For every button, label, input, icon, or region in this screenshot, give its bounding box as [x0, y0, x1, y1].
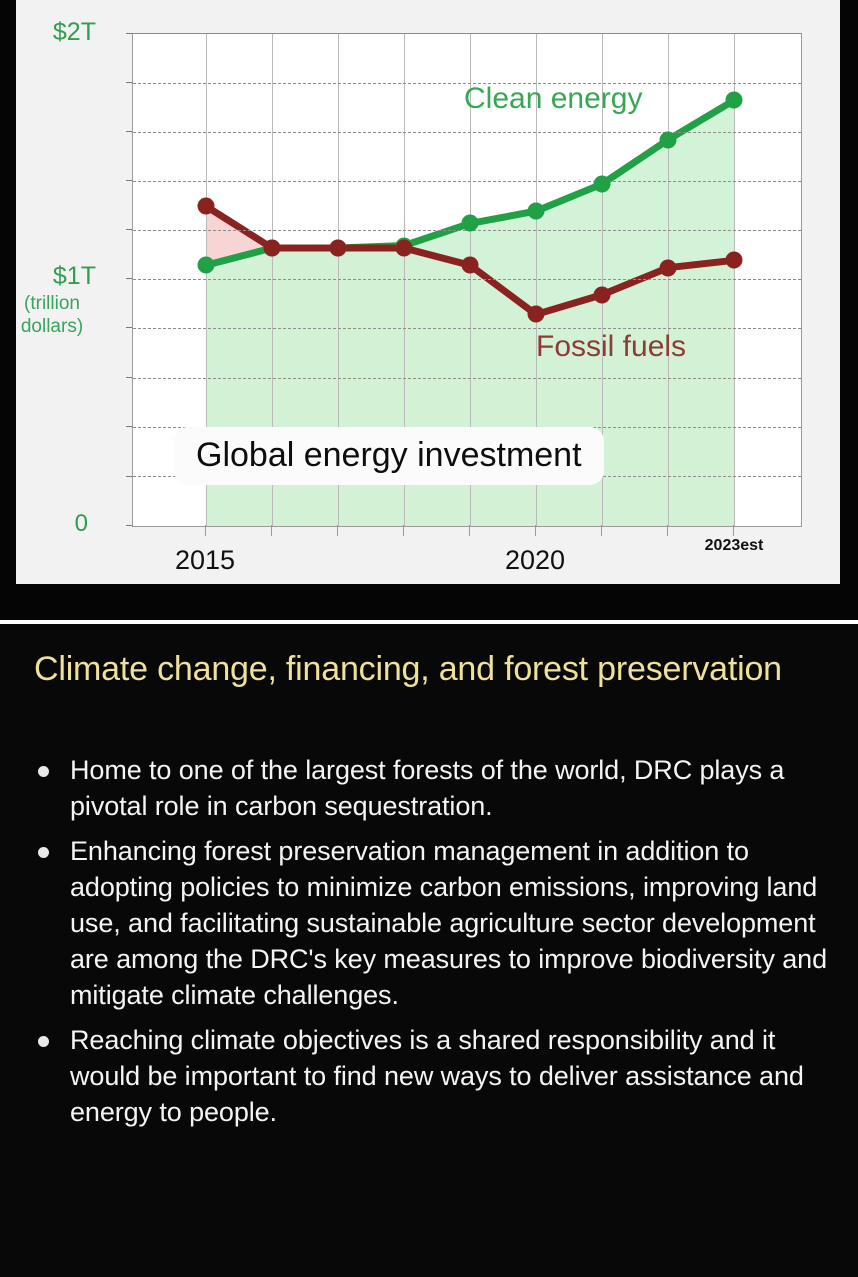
clean-energy-series-label: Clean energy: [464, 84, 642, 114]
bullet-text: Home to one of the largest forests of th…: [70, 752, 834, 824]
fossil-fuels-point: [594, 286, 611, 303]
x-tick: [337, 525, 338, 536]
fossil-fuels-point: [264, 240, 281, 257]
x-tick: [667, 525, 668, 536]
x-gridline: [668, 34, 669, 526]
x-tick: [205, 525, 206, 536]
bullet-item: Home to one of the largest forests of th…: [34, 752, 834, 824]
y-axis-label-zero: 0: [75, 512, 88, 536]
x-tick: [469, 525, 470, 536]
fossil-fuels-point: [660, 259, 677, 276]
y-gridline: [133, 132, 801, 133]
fossil-fuels-point: [462, 257, 479, 274]
bullet-marker-icon: [38, 847, 49, 858]
clean-energy-point: [198, 257, 215, 274]
bullet-list: Home to one of the largest forests of th…: [34, 752, 834, 1139]
fossil-fuels-series-label: Fossil fuels: [536, 332, 686, 362]
fossil-fuels-point: [330, 240, 347, 257]
x-axis-label-2020: 2020: [505, 547, 565, 574]
presentation-slide: $2T $1T (trillion dollars) 0: [0, 0, 858, 1277]
bullet-text: Reaching climate objectives is a shared …: [70, 1022, 834, 1130]
clean-energy-point: [660, 131, 677, 148]
bullet-item: Reaching climate objectives is a shared …: [34, 1022, 834, 1130]
x-tick: [403, 525, 404, 536]
x-tick: [271, 525, 272, 536]
slide-title: Climate change, financing, and forest pr…: [34, 650, 834, 689]
y-gridline: [133, 328, 801, 329]
clean-energy-point: [462, 215, 479, 232]
x-tick: [733, 525, 734, 536]
y-axis-label-1t: $1T: [53, 264, 96, 289]
y-axis-units: (trillion dollars): [0, 292, 112, 338]
bullet-marker-icon: [38, 1036, 49, 1047]
bullet-text: Enhancing forest preservation management…: [70, 833, 834, 1013]
y-gridline: [133, 378, 801, 379]
x-axis-label-2023est: 2023est: [705, 538, 764, 554]
fossil-fuels-point: [726, 252, 743, 269]
bullet-marker-icon: [38, 766, 49, 777]
chart-area: $2T $1T (trillion dollars) 0: [16, 0, 840, 584]
clean-energy-point: [528, 203, 545, 220]
clean-energy-point: [594, 176, 611, 193]
y-axis-units-line2: dollars): [0, 315, 112, 338]
text-panel: Climate change, financing, and forest pr…: [0, 624, 858, 1277]
fossil-fuels-point: [528, 306, 545, 323]
x-axis-label-2015: 2015: [175, 547, 235, 574]
y-axis-units-line1: (trillion: [0, 292, 112, 315]
x-tick: [601, 525, 602, 536]
chart-title-pill: Global energy investment: [174, 427, 604, 485]
fossil-fuels-point: [396, 240, 413, 257]
y-gridline: [133, 181, 801, 182]
chart-panel: $2T $1T (trillion dollars) 0: [16, 0, 840, 584]
fossil-fuels-point: [198, 198, 215, 215]
y-gridline: [133, 279, 801, 280]
bullet-item: Enhancing forest preservation management…: [34, 833, 834, 1013]
clean-energy-point: [726, 92, 743, 109]
x-tick: [535, 525, 536, 536]
y-axis-label-2t: $2T: [53, 20, 96, 45]
